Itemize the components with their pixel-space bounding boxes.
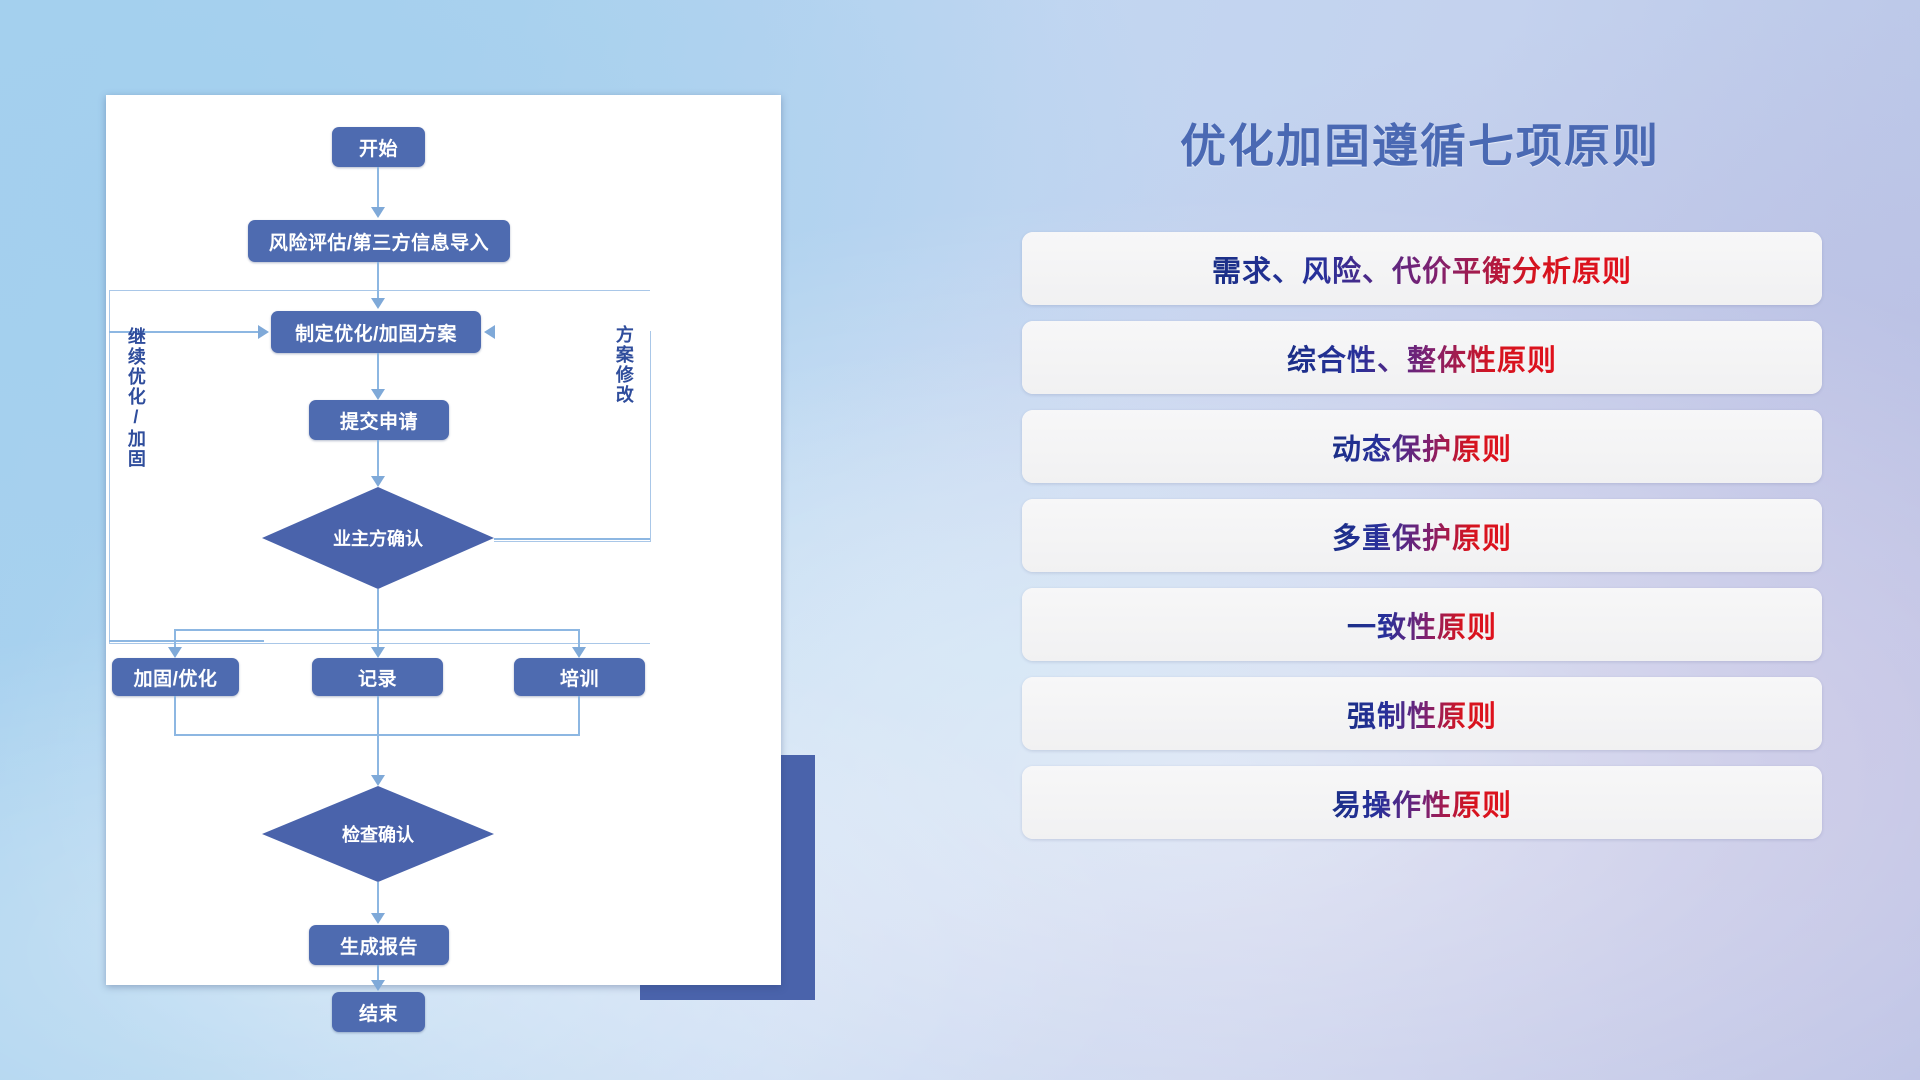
edge-label-plan-revision: 方案修改 — [614, 325, 633, 405]
node-plan-label: 制定优化/加固方案 — [295, 319, 457, 346]
node-start[interactable]: 开始 — [332, 127, 425, 167]
list-item[interactable]: 易操作性原则 — [1022, 766, 1822, 839]
node-report-label: 生成报告 — [340, 932, 418, 959]
principle-label: 需求、风险、代价平衡分析原则 — [1212, 248, 1632, 290]
node-record-label: 记录 — [358, 664, 397, 691]
node-check-confirm-label: 检查确认 — [342, 821, 414, 847]
principle-label: 强制性原则 — [1347, 693, 1497, 735]
node-end[interactable]: 结束 — [332, 992, 425, 1032]
principle-label: 动态保护原则 — [1332, 426, 1512, 468]
node-training-label: 培训 — [560, 664, 599, 691]
list-item[interactable]: 动态保护原则 — [1022, 410, 1822, 483]
node-training[interactable]: 培训 — [514, 658, 645, 696]
node-risk-label: 风险评估/第三方信息导入 — [269, 228, 489, 255]
node-record[interactable]: 记录 — [312, 658, 443, 696]
node-make-plan[interactable]: 制定优化/加固方案 — [271, 311, 481, 353]
principle-label: 多重保护原则 — [1332, 515, 1512, 557]
edge-label-continue-optimize: 继续优化/加固 — [126, 327, 145, 469]
node-owner-confirm-label: 业主方确认 — [333, 525, 423, 551]
list-item[interactable]: 多重保护原则 — [1022, 499, 1822, 572]
list-item[interactable]: 综合性、整体性原则 — [1022, 321, 1822, 394]
flowchart-diagram: 开始 风险评估/第三方信息导入 制定优化/加固方案 继续优化/加固 方案修改 提… — [106, 95, 781, 985]
list-item[interactable]: 强制性原则 — [1022, 677, 1822, 750]
node-generate-report[interactable]: 生成报告 — [309, 925, 449, 965]
principle-label: 综合性、整体性原则 — [1287, 337, 1557, 379]
node-risk-assessment[interactable]: 风险评估/第三方信息导入 — [248, 220, 510, 262]
list-item[interactable]: 一致性原则 — [1022, 588, 1822, 661]
node-reinforce-label: 加固/优化 — [134, 664, 218, 691]
principles-list: 需求、风险、代价平衡分析原则 综合性、整体性原则 动态保护原则 多重保护原则 一… — [1022, 232, 1822, 855]
node-start-label: 开始 — [359, 134, 398, 161]
node-check-confirm[interactable]: 检查确认 — [262, 786, 494, 882]
node-reinforce-optimize[interactable]: 加固/优化 — [112, 658, 239, 696]
principle-label: 易操作性原则 — [1332, 782, 1512, 824]
node-owner-confirm[interactable]: 业主方确认 — [262, 487, 494, 589]
list-item[interactable]: 需求、风险、代价平衡分析原则 — [1022, 232, 1822, 305]
principle-label: 一致性原则 — [1347, 604, 1497, 646]
node-submit-application[interactable]: 提交申请 — [309, 400, 449, 440]
page-title: 优化加固遵循七项原则 — [1020, 110, 1820, 176]
node-end-label: 结束 — [359, 999, 398, 1026]
node-submit-label: 提交申请 — [340, 407, 418, 434]
